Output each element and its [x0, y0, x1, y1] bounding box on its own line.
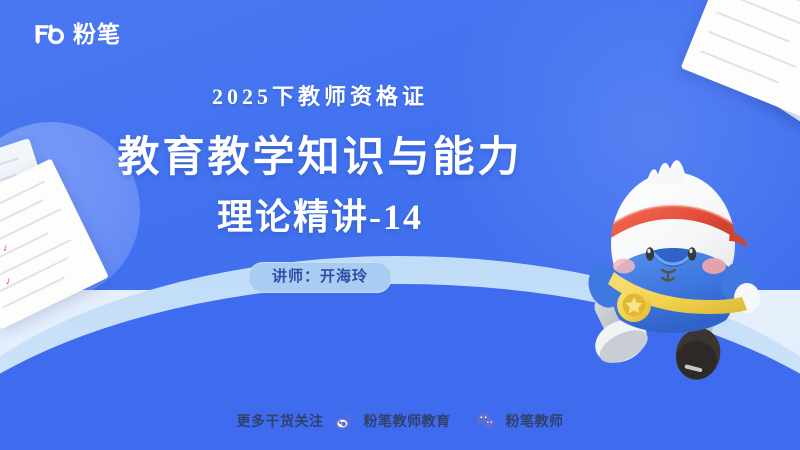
wechat-icon[interactable]: [475, 410, 497, 432]
weibo-icon[interactable]: [333, 410, 355, 432]
hero-kicker: 2025下教师资格证: [0, 84, 640, 110]
hero-text-block: 2025下教师资格证 教育教学知识与能力 理论精讲-14 讲师：开海玲: [0, 84, 640, 293]
course-cover-slide: ✓ ✓ ✓ ✗ 粉笔 2025下教师资格证 教育教学知识与能力 理论精讲-14: [0, 0, 800, 450]
brand-logo-text: 粉笔: [73, 23, 121, 46]
fb-monogram-icon: [32, 22, 66, 46]
hero-subtitle: 理论精讲-14: [0, 195, 640, 240]
instructor-badge: 讲师：开海玲: [248, 262, 392, 294]
brand-logo[interactable]: 粉笔: [32, 22, 121, 46]
fenbi-egg-mascot: [580, 148, 766, 384]
weibo-account-name[interactable]: 粉笔教师教育: [364, 414, 451, 428]
footer-follow-bar: 更多干货关注 粉笔教师教育 粉笔教师: [0, 410, 800, 432]
wechat-account-name[interactable]: 粉笔教师: [506, 414, 564, 428]
mascot-illustration: [580, 148, 766, 384]
footer-prompt: 更多干货关注: [237, 414, 324, 428]
page-title: 教育教学知识与能力: [0, 132, 640, 185]
